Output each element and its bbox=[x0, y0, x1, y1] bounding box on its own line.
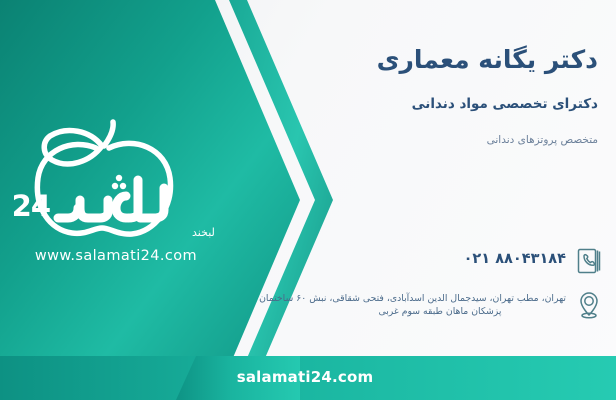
business-card: 24 راحتی یک لبخند www.salamati24.com دکت… bbox=[0, 0, 616, 400]
logo-slogan: راحتی یک لبخند bbox=[192, 226, 214, 239]
logo-website-url: www.salamati24.com bbox=[22, 248, 210, 264]
doctor-name: دکتر یگانه معماری bbox=[308, 44, 598, 75]
doctor-degree: دکترای تخصصی مواد دندانی bbox=[308, 96, 598, 114]
map-pin-icon bbox=[576, 290, 602, 320]
apple-outline-logo-icon: 24 راحتی یک لبخند bbox=[14, 112, 214, 247]
logo-24-text: 24 bbox=[14, 189, 50, 223]
doctor-specialty: متخصص پروتزهای دندانی bbox=[308, 134, 598, 148]
card-content: دکتر یگانه معماری دکترای تخصصی مواد دندا… bbox=[286, 0, 616, 400]
phone-row: ۸۸۰۴۳۱۸۴ ۰۲۱ bbox=[464, 246, 602, 276]
footer-banner: salamati24.com bbox=[0, 354, 616, 400]
logo-24-badge: 24 bbox=[14, 189, 50, 223]
phone-book-icon bbox=[576, 246, 602, 276]
phone-number: ۸۸۰۴۳۱۸۴ ۰۲۱ bbox=[464, 246, 566, 267]
address-line-1: تهران، مطب تهران، سیدجمال الدین اسدآبادی… bbox=[314, 292, 566, 305]
footer-website: salamati24.com bbox=[237, 368, 374, 386]
address-line-2: پزشکان ماهان طبقه سوم غربی bbox=[314, 305, 566, 318]
brand-logo: 24 راحتی یک لبخند www.salamati24.com bbox=[14, 112, 214, 277]
address-text: تهران، مطب تهران، سیدجمال الدین اسدآبادی… bbox=[314, 290, 566, 319]
address-row: تهران، مطب تهران، سیدجمال الدین اسدآبادی… bbox=[314, 290, 602, 320]
